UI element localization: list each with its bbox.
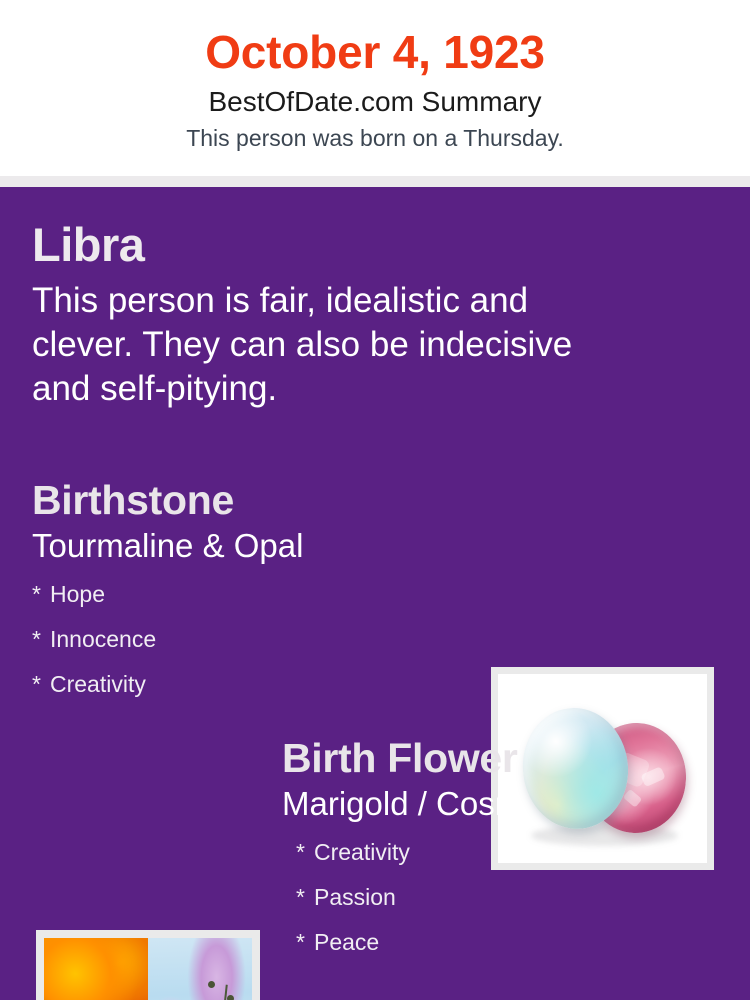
birth-flower-trait-label: Peace [314, 929, 379, 955]
flower-bud [227, 995, 234, 1000]
list-item: *Passion [296, 875, 722, 920]
list-item: *Creativity [32, 662, 472, 707]
birth-flower-trait-label: Passion [314, 884, 396, 910]
birthstone-value: Tourmaline & Opal [32, 525, 472, 566]
zodiac-description: This person is fair, idealistic and clev… [32, 273, 632, 411]
cosmos-photo-icon [148, 938, 252, 1000]
zodiac-section: Libra This person is fair, idealistic an… [32, 217, 632, 411]
flower-bud [208, 981, 215, 988]
bullet-star-icon: * [32, 662, 50, 707]
content-panel: Libra This person is fair, idealistic an… [0, 187, 750, 1000]
birth-flower-image-inner [44, 938, 252, 1000]
page-title: October 4, 1923 [0, 0, 750, 80]
birth-flower-trait-list: *Creativity *Passion *Peace [282, 824, 722, 965]
bullet-star-icon: * [296, 875, 314, 920]
bullet-star-icon: * [32, 572, 50, 617]
birth-flower-image [36, 930, 260, 1000]
summary-page: October 4, 1923 BestOfDate.com Summary T… [0, 0, 750, 1000]
birthstone-section: Birthstone Tourmaline & Opal *Hope *Inno… [32, 475, 472, 707]
birthstone-trait-label: Hope [50, 581, 105, 607]
header-divider [0, 176, 750, 187]
birthstone-trait-label: Innocence [50, 626, 156, 652]
site-subtitle: BestOfDate.com Summary [0, 80, 750, 119]
flower-collage [44, 938, 252, 1000]
gem-facet [623, 789, 642, 808]
bullet-star-icon: * [296, 920, 314, 965]
flower-stem [212, 985, 228, 1000]
list-item: *Innocence [32, 617, 472, 662]
bullet-star-icon: * [296, 830, 314, 875]
birth-flower-trait-label: Creativity [314, 839, 410, 865]
marigold-photo-icon [44, 938, 148, 1000]
page-header: October 4, 1923 BestOfDate.com Summary T… [0, 0, 750, 176]
bullet-star-icon: * [32, 617, 50, 662]
list-item: *Peace [296, 920, 722, 965]
birth-day-note: This person was born on a Thursday. [0, 119, 750, 153]
birthstone-trait-label: Creativity [50, 671, 146, 697]
zodiac-sign-name: Libra [32, 217, 632, 273]
list-item: *Hope [32, 572, 472, 617]
birthstone-trait-list: *Hope *Innocence *Creativity [32, 566, 472, 707]
birthstone-heading: Birthstone [32, 475, 472, 525]
gemstone-shadow [531, 825, 677, 846]
